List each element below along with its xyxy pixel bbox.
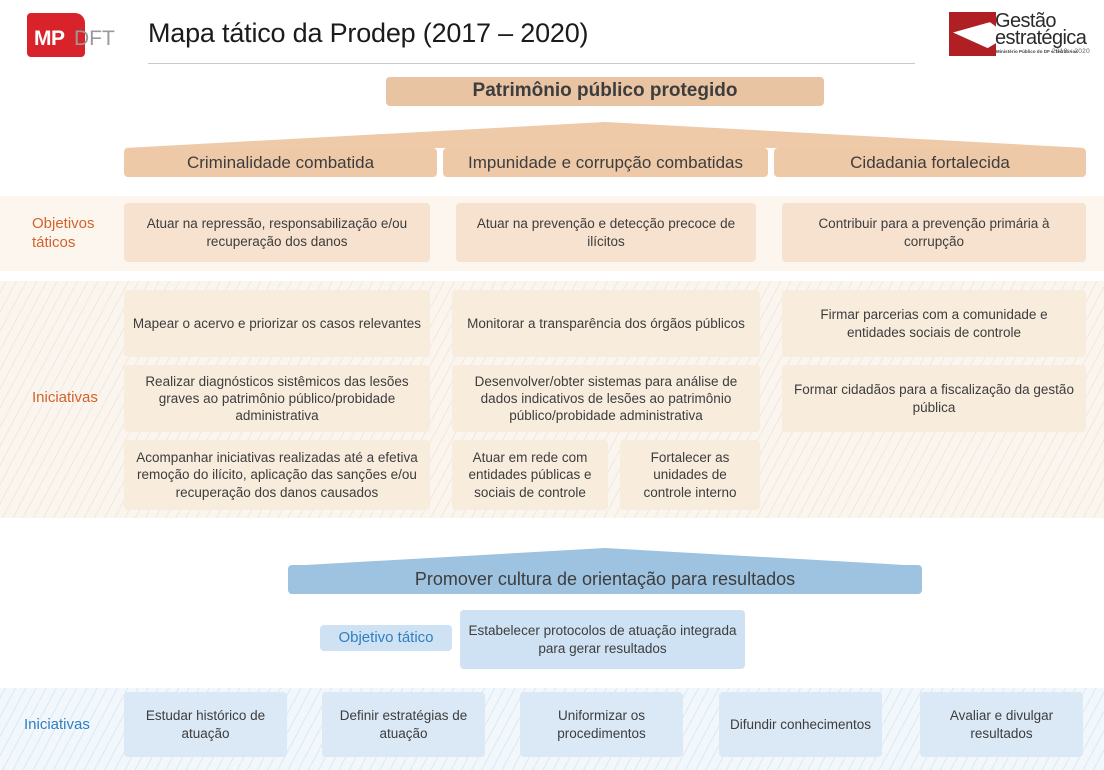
chevron-down-warm-icon <box>124 122 1086 148</box>
page-title: Mapa tático da Prodep (2017 – 2020) <box>148 18 588 49</box>
gestao-logo-red-block <box>949 12 996 56</box>
rail-label-iniciativas-warm: Iniciativas <box>32 388 132 408</box>
gestao-estrategica-logo: Gestão estratégica Ministério Público do… <box>949 8 1092 60</box>
tactical-map-slide: MP DFT Mapa tático da Prodep (2017 – 202… <box>0 0 1104 770</box>
iniciativa-c2-r3b: Fortalecer as unidades de controle inter… <box>620 440 760 510</box>
column-header-criminalidade: Criminalidade combatida <box>124 148 437 177</box>
rail-label-iniciativas-cool: Iniciativas <box>24 715 134 735</box>
title-divider <box>148 63 915 64</box>
objetivo-tatico-3: Contribuir para a prevenção primária à c… <box>782 203 1086 262</box>
iniciativa-bottom-1: Estudar histórico de atuação <box>124 692 287 757</box>
bottom-banner-promover-cultura: Promover cultura de orientação para resu… <box>288 565 922 594</box>
iniciativa-c1-r3: Acompanhar iniciativas realizadas até a … <box>124 440 430 510</box>
iniciativa-c3-r2: Formar cidadãos para a fiscalização da g… <box>782 365 1086 432</box>
rail-label-objetivos-taticos: Objetivos táticos <box>32 206 117 261</box>
objetivo-tatico-bottom: Estabelecer protocolos de atuação integr… <box>460 610 745 669</box>
column-header-cidadania: Cidadania fortalecida <box>774 148 1086 177</box>
objetivo-tatico-2: Atuar na prevenção e detecção precoce de… <box>456 203 756 262</box>
iniciativa-c2-r2: Desenvolver/obter sistemas para análise … <box>452 365 760 432</box>
iniciativa-bottom-5: Avaliar e divulgar resultados <box>920 692 1083 757</box>
iniciativa-c1-r1: Mapear o acervo e priorizar os casos rel… <box>124 290 430 357</box>
gestao-logo-years: 2010 - 2020 <box>1052 48 1090 55</box>
iniciativa-bottom-2: Definir estratégias de atuação <box>322 692 485 757</box>
iniciativa-bottom-3: Uniformizar os procedimentos <box>520 692 683 757</box>
iniciativa-c3-r1: Firmar parcerias com a comunidade e enti… <box>782 290 1086 357</box>
chevron-down-cool-icon <box>288 548 922 566</box>
rail-label-objetivos-line2: táticos <box>32 234 75 253</box>
gestao-logo-word-estrategica: estratégica <box>995 28 1086 48</box>
rail-label-objetivos-line1: Objetivos <box>32 215 95 234</box>
top-banner-patrimonio: Patrimônio público protegido <box>386 77 824 106</box>
iniciativa-c2-r3a: Atuar em rede com entidades públicas e s… <box>452 440 608 510</box>
iniciativa-c2-r1: Monitorar a transparência dos órgãos púb… <box>452 290 760 357</box>
iniciativa-c1-r2: Realizar diagnósticos sistêmicos das les… <box>124 365 430 432</box>
pen-icon <box>952 19 996 49</box>
column-header-impunidade: Impunidade e corrupção combatidas <box>443 148 768 177</box>
rail-label-objetivo-tatico-cool: Objetivo tático <box>320 625 452 651</box>
objetivo-tatico-1: Atuar na repressão, responsabilização e/… <box>124 203 430 262</box>
iniciativa-bottom-4: Difundir conhecimentos <box>719 692 882 757</box>
mpdft-logo-dft-text: DFT <box>74 27 115 51</box>
mpdft-logo-mp-text: MP <box>34 27 65 51</box>
